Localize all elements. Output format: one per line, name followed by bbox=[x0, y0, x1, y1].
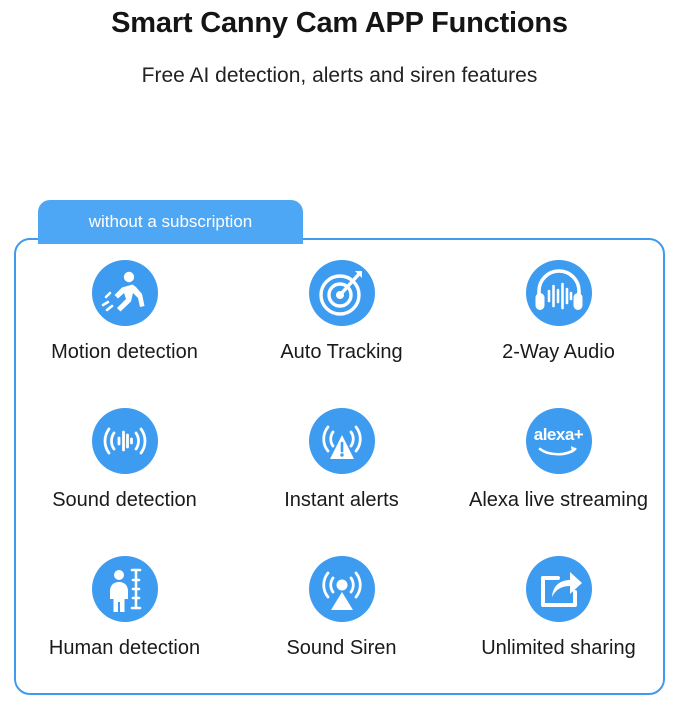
feature-instant-alerts: Instant alerts bbox=[233, 396, 450, 512]
subscription-tab-label: without a subscription bbox=[89, 212, 252, 232]
feature-human-detection: Human detection bbox=[16, 544, 233, 660]
alexa-plus-icon: alexa+ bbox=[526, 408, 592, 474]
feature-sound-siren: Sound Siren bbox=[233, 544, 450, 660]
amazon-smile-icon bbox=[537, 443, 579, 457]
feature-sound-detection: Sound detection bbox=[16, 396, 233, 512]
alert-signal-icon bbox=[309, 408, 375, 474]
features-grid: Motion detection Auto Tracking bbox=[16, 248, 667, 692]
running-person-icon bbox=[92, 260, 158, 326]
siren-broadcast-icon bbox=[309, 556, 375, 622]
page-title: Smart Canny Cam APP Functions bbox=[0, 0, 679, 42]
alexa-wordmark: alexa+ bbox=[534, 426, 583, 443]
feature-label: Sound detection bbox=[52, 488, 197, 512]
page-subtitle: Free AI detection, alerts and siren feat… bbox=[0, 42, 679, 90]
share-arrow-icon bbox=[526, 556, 592, 622]
sound-wave-icon bbox=[92, 408, 158, 474]
feature-label: Unlimited sharing bbox=[481, 636, 636, 660]
feature-auto-tracking: Auto Tracking bbox=[233, 248, 450, 364]
features-panel: Motion detection Auto Tracking bbox=[14, 238, 665, 695]
feature-label: Human detection bbox=[49, 636, 200, 660]
human-measure-icon bbox=[92, 556, 158, 622]
feature-label: 2-Way Audio bbox=[502, 340, 615, 364]
subscription-tab: without a subscription bbox=[38, 200, 303, 244]
target-crosshair-icon bbox=[309, 260, 375, 326]
feature-two-way-audio: 2-Way Audio bbox=[450, 248, 667, 364]
feature-alexa-live-streaming: alexa+ Alexa live streaming bbox=[450, 396, 667, 512]
headphones-waveform-icon bbox=[526, 260, 592, 326]
feature-unlimited-sharing: Unlimited sharing bbox=[450, 544, 667, 660]
feature-label: Sound Siren bbox=[286, 636, 396, 660]
feature-label: Instant alerts bbox=[284, 488, 399, 512]
feature-label: Auto Tracking bbox=[280, 340, 402, 364]
infographic-page: Smart Canny Cam APP Functions Free AI de… bbox=[0, 0, 679, 711]
feature-label: Alexa live streaming bbox=[469, 488, 648, 512]
feature-label: Motion detection bbox=[51, 340, 198, 364]
feature-motion-detection: Motion detection bbox=[16, 248, 233, 364]
